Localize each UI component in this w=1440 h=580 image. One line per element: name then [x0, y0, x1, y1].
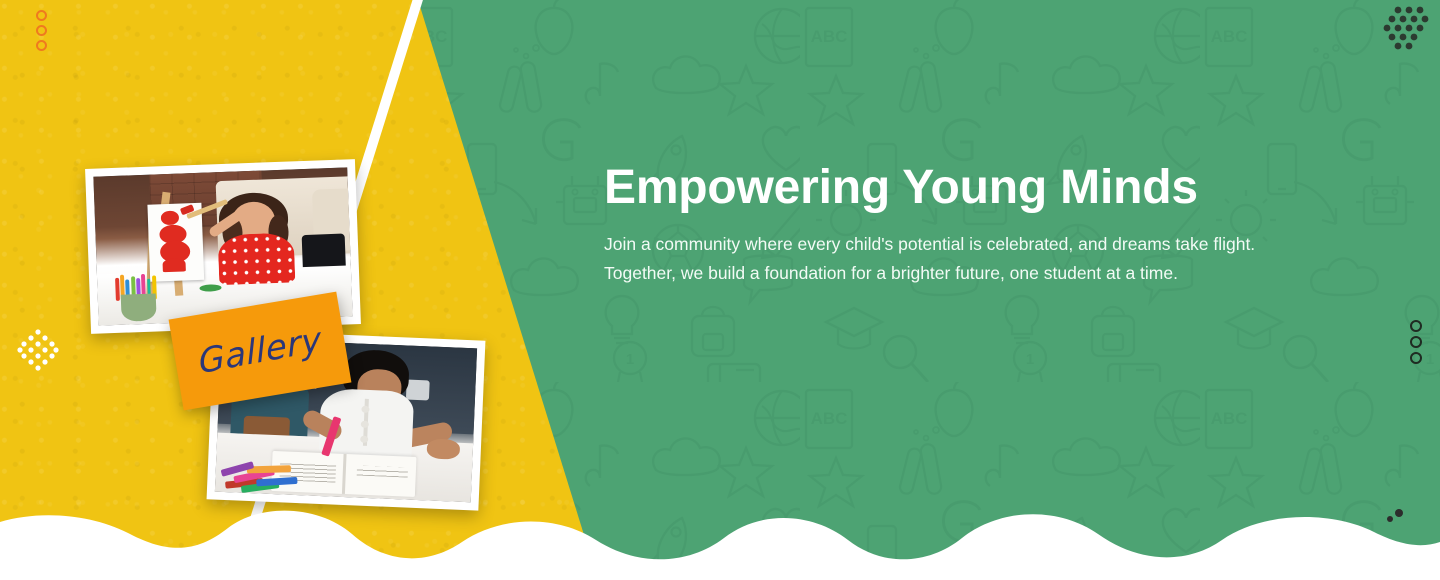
- bottom-scallop-wave: [0, 488, 1440, 580]
- rings-mid-right-icon: [1410, 320, 1422, 368]
- gallery-tag-label: Gallery: [197, 320, 323, 383]
- hero-banner: ABC: [0, 0, 1440, 580]
- hero-subcopy: Join a community where every child's pot…: [604, 230, 1316, 287]
- hero-copy: Empowering Young Minds Join a community …: [604, 160, 1324, 287]
- dot-grid-top-right-icon: [1378, 4, 1430, 56]
- diamond-dots-left-icon: [16, 328, 60, 372]
- page-title: Empowering Young Minds: [604, 160, 1324, 215]
- rings-top-left-icon: [36, 10, 47, 55]
